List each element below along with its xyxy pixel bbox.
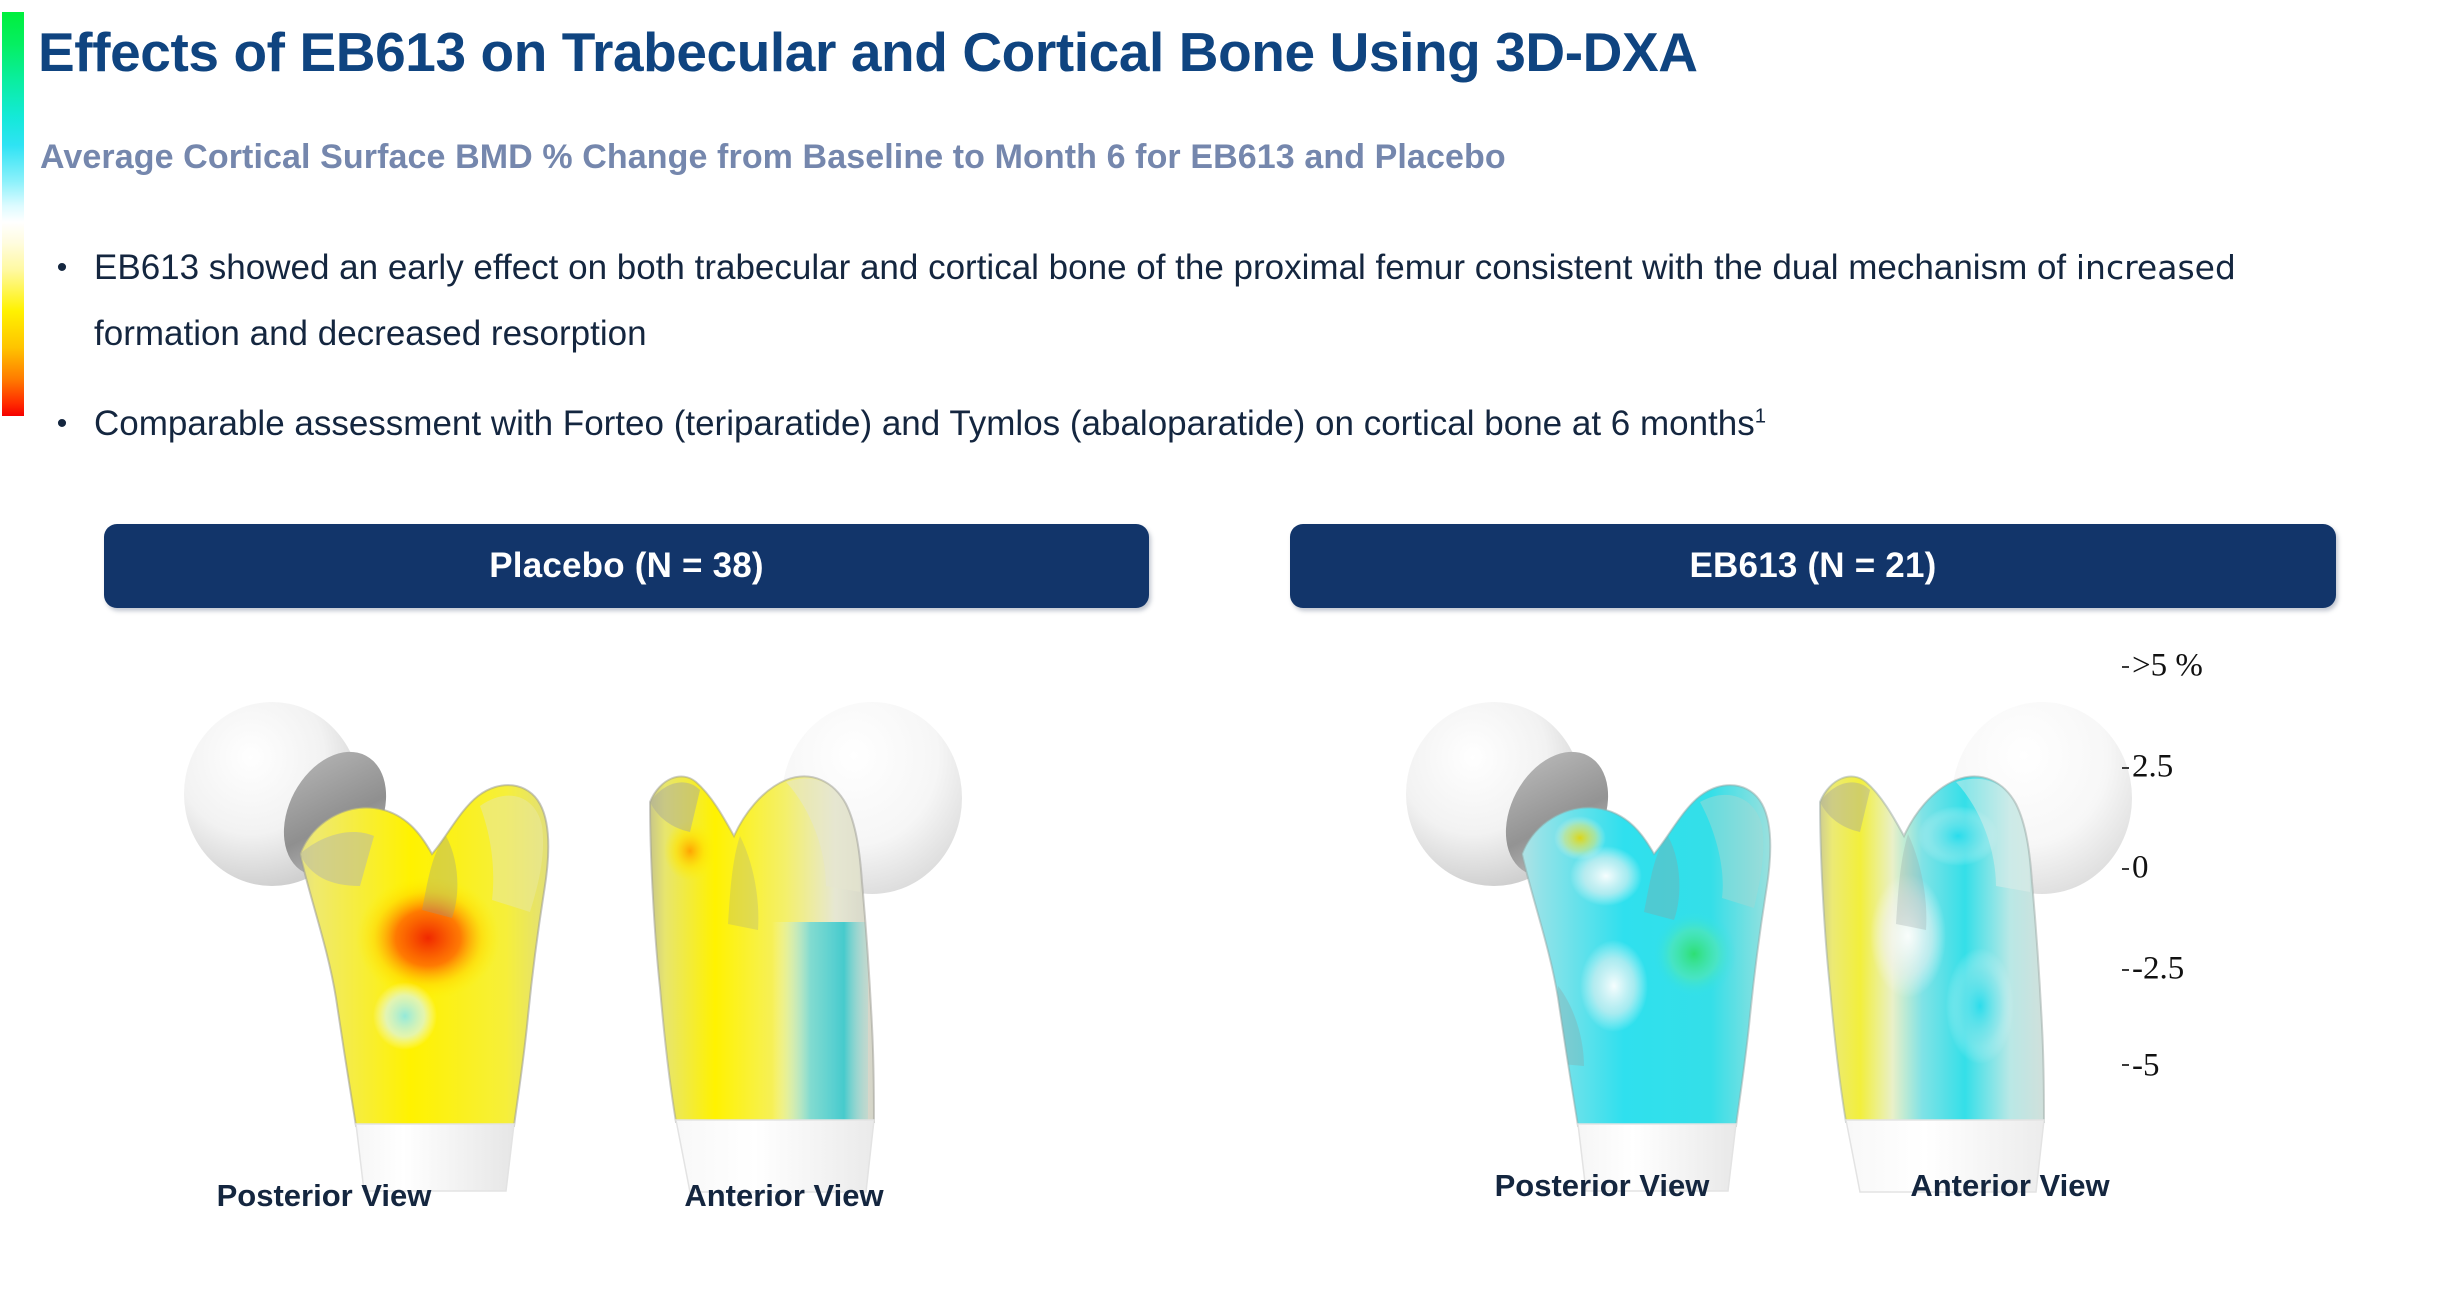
bmd-patch-white-lower bbox=[1580, 940, 1648, 1032]
caption-eb613-posterior: Posterior View bbox=[1382, 1168, 1822, 1204]
panel-header-placebo: Placebo (N = 38) bbox=[104, 524, 1149, 608]
panel-header-eb613: EB613 (N = 21) bbox=[1290, 524, 2336, 608]
bullet-item-1: • EB613 showed an early effect on both t… bbox=[30, 235, 2420, 367]
caption-placebo-anterior: Anterior View bbox=[564, 1178, 1004, 1214]
page-subtitle: Average Cortical Surface BMD % Change fr… bbox=[40, 138, 2340, 177]
colorbar-label-2p5: 2.5 bbox=[2132, 749, 2173, 786]
colorbar-tick-4 bbox=[2122, 1064, 2129, 1066]
colorbar-tick-0 bbox=[2122, 666, 2129, 668]
panel-body-placebo bbox=[104, 608, 1149, 1208]
colorbar-tick-2 bbox=[2122, 868, 2129, 870]
bullet-item-2: • Comparable assessment with Forteo (ter… bbox=[30, 391, 2420, 457]
colorbar-label-max: >5 % bbox=[2132, 648, 2203, 685]
bullet-1-emphasis: increased bbox=[2076, 248, 2236, 287]
colorbar-tick-1 bbox=[2122, 767, 2129, 769]
panel-placebo: Placebo (N = 38) bbox=[104, 524, 1149, 1208]
colorbar-label-neg2p5: -2.5 bbox=[2132, 951, 2184, 988]
bullet-2-pre: Comparable assessment with Forteo (terip… bbox=[94, 404, 1755, 443]
bullet-text-2: Comparable assessment with Forteo (terip… bbox=[94, 391, 2324, 457]
bmd-spot-cyan-lower bbox=[1946, 948, 2014, 1064]
bmd-spot-cyan bbox=[373, 982, 437, 1050]
bullet-list: • EB613 showed an early effect on both t… bbox=[30, 235, 2420, 481]
page-title: Effects of EB613 on Trabecular and Corti… bbox=[38, 20, 2338, 84]
bmd-band-cyan bbox=[772, 922, 868, 1128]
colorbar-legend: >5 % 2.5 0 -2.5 -5 bbox=[2098, 650, 2428, 1080]
bullet-text-1: EB613 showed an early effect on both tra… bbox=[94, 235, 2324, 367]
femur-image-placebo-posterior bbox=[160, 686, 600, 1196]
bullet-marker: • bbox=[30, 235, 94, 301]
bullet-1-pre: EB613 showed an early effect on both tra… bbox=[94, 248, 2076, 287]
bmd-spot-yellow-neck bbox=[1554, 816, 1606, 860]
femur-image-placebo-anterior bbox=[620, 686, 1060, 1196]
bullet-marker: • bbox=[30, 391, 94, 457]
femur-image-eb613-posterior bbox=[1382, 686, 1822, 1196]
colorbar-gradient bbox=[2, 12, 24, 416]
colorbar-label-min: -5 bbox=[2132, 1048, 2160, 1085]
footnote-marker: 1 bbox=[1755, 405, 1766, 427]
caption-placebo-posterior: Posterior View bbox=[104, 1178, 544, 1214]
bmd-patch-green bbox=[1652, 910, 1736, 998]
caption-eb613-anterior: Anterior View bbox=[1790, 1168, 2230, 1204]
colorbar-tick-3 bbox=[2122, 969, 2129, 971]
colorbar-label-zero: 0 bbox=[2132, 850, 2149, 887]
bullet-1-post: formation and decreased resorption bbox=[94, 314, 647, 353]
